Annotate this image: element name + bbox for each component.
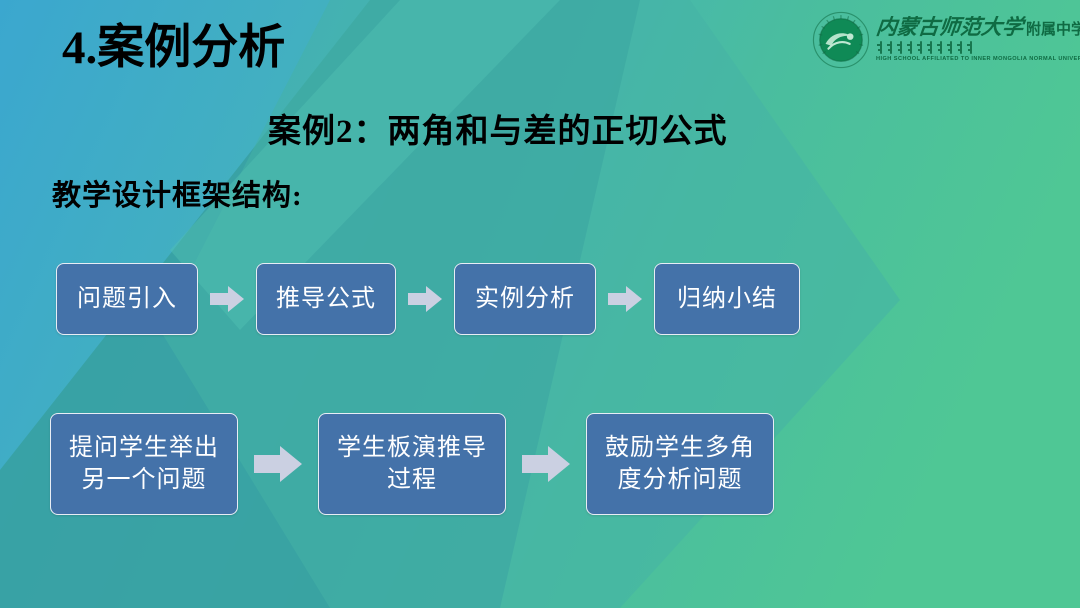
school-logo: 内蒙古师范大学 附属中学 HIGH SCHOOL AFFILIATED TO I… xyxy=(812,8,1074,72)
school-logo-text: 内蒙古师范大学 附属中学 HIGH SCHOOL AFFILIATED TO I… xyxy=(876,17,1080,63)
flow-step-box[interactable]: 实例分析 xyxy=(454,263,596,335)
flow-step-box[interactable]: 鼓励学生多角 度分析问题 xyxy=(586,413,774,515)
right-arrow-icon xyxy=(608,284,642,314)
flow-step-box[interactable]: 推导公式 xyxy=(256,263,396,335)
section-label: 教学设计框架结构: xyxy=(52,172,303,214)
page-title: 4.案例分析 xyxy=(62,8,285,77)
mongolian-script xyxy=(876,41,1080,54)
right-arrow-icon xyxy=(210,284,244,314)
flow-step-box[interactable]: 归纳小结 xyxy=(654,263,800,335)
school-name-sub: 附属中学 xyxy=(1026,23,1080,38)
presentation-slide: 内蒙古师范大学 附属中学 HIGH SCHOOL AFFILIATED TO I… xyxy=(0,0,1080,608)
teaching-design-main-flow: 问题引入 推导公式 实例分析 归纳小结 xyxy=(56,263,800,335)
case-title: 案例2：两角和与差的正切公式 xyxy=(268,104,728,152)
right-arrow-icon xyxy=(408,284,442,314)
flow-step-box[interactable]: 问题引入 xyxy=(56,263,198,335)
school-seal-icon xyxy=(812,11,870,69)
flow-step-box[interactable]: 学生板演推导 过程 xyxy=(318,413,506,515)
teaching-design-detail-flow: 提问学生举出 另一个问题 学生板演推导 过程 鼓励学生多角 度分析问题 xyxy=(50,413,774,515)
school-name-main: 内蒙古师范大学 xyxy=(875,17,1024,38)
right-arrow-icon xyxy=(522,443,570,485)
school-name-english: HIGH SCHOOL AFFILIATED TO INNER MONGOLIA… xyxy=(876,57,1080,63)
flow-step-box[interactable]: 提问学生举出 另一个问题 xyxy=(50,413,238,515)
right-arrow-icon xyxy=(254,443,302,485)
